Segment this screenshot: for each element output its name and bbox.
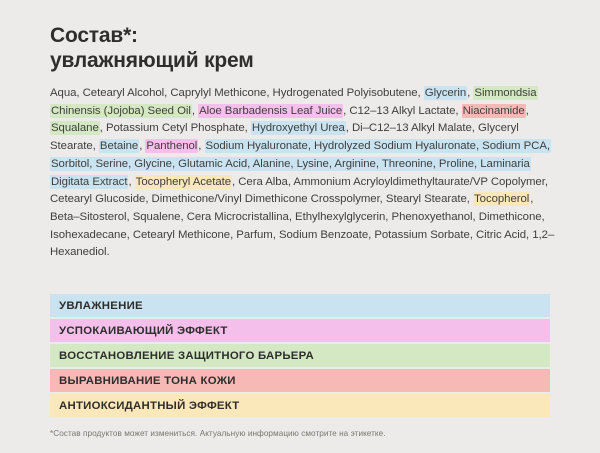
ingredient-highlight-tone: Niacinamide xyxy=(462,104,526,118)
legend-label-tone: ВЫРАВНИВАНИЕ ТОНА КОЖИ xyxy=(59,375,236,387)
ingredient-text: , Potassium Cetyl Phosphate, xyxy=(100,122,251,134)
footnote: *Состав продуктов может измениться. Акту… xyxy=(50,428,386,440)
ingredient-highlight-barrier: Squalane xyxy=(50,121,100,135)
ingredient-highlight-soothing: Aloe Barbadensis Leaf Juice xyxy=(198,104,343,118)
ingredients-infographic: Состав*: увлажняющий крем Aqua, Cetearyl… xyxy=(0,0,600,453)
legend-label-barrier: ВОССТАНОВЛЕНИЕ ЗАЩИТНОГО БАРЬЕРА xyxy=(59,350,314,362)
ingredient-text: , xyxy=(198,140,204,152)
legend-label-antioxidant: АНТИОКСИДАНТНЫЙ ЭФФЕКТ xyxy=(59,400,239,412)
page-title-line-1: Состав*: xyxy=(50,23,560,48)
ingredients-list: Aqua, Cetearyl Alcohol, Caprylyl Methico… xyxy=(50,85,555,262)
page-title: Состав*: увлажняющий крем xyxy=(50,23,560,73)
legend-label-soothing: УСПОКАИВАЮЩИЙ ЭФФЕКТ xyxy=(59,325,228,337)
ingredient-text: , xyxy=(128,176,134,188)
legend-bar-antioxidant: АНТИОКСИДАНТНЫЙ ЭФФЕКТ xyxy=(50,394,550,417)
ingredient-text: , C12–13 Alkyl Lactate, xyxy=(343,105,461,117)
legend-bar-barrier: ВОССТАНОВЛЕНИЕ ЗАЩИТНОГО БАРЬЕРА xyxy=(50,344,550,367)
ingredient-highlight-antioxidant: Tocopherol xyxy=(473,192,530,206)
ingredient-highlight-moisturizing: Hydroxyethyl Urea xyxy=(251,121,346,135)
ingredient-highlight-antioxidant: Tocopheryl Acetate xyxy=(135,175,232,189)
legend: УВЛАЖНЕНИЕУСПОКАИВАЮЩИЙ ЭФФЕКТВОССТАНОВЛ… xyxy=(50,294,550,419)
legend-bar-tone: ВЫРАВНИВАНИЕ ТОНА КОЖИ xyxy=(50,369,550,392)
legend-bar-moisturizing: УВЛАЖНЕНИЕ xyxy=(50,294,550,317)
legend-bar-soothing: УСПОКАИВАЮЩИЙ ЭФФЕКТ xyxy=(50,319,550,342)
page-title-line-2: увлажняющий крем xyxy=(50,48,560,73)
legend-label-moisturizing: УВЛАЖНЕНИЕ xyxy=(59,300,143,312)
ingredient-highlight-moisturizing: Betaine xyxy=(99,139,139,153)
ingredient-text: Aqua, Cetearyl Alcohol, Caprylyl Methico… xyxy=(50,87,424,99)
ingredient-text: , xyxy=(526,105,529,117)
ingredient-highlight-moisturizing: Glycerin xyxy=(424,86,467,100)
ingredient-highlight-soothing: Panthenol xyxy=(145,139,198,153)
